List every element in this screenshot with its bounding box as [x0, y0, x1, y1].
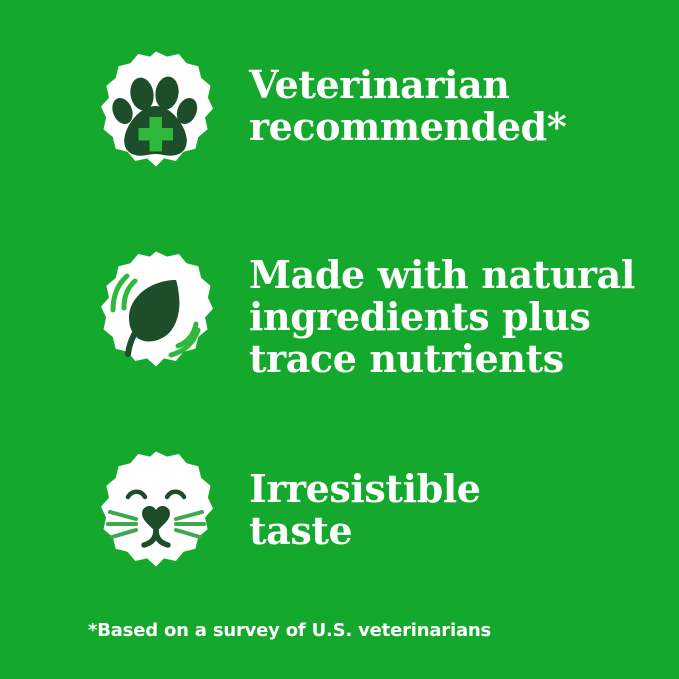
feature-text: Irresistible taste — [249, 450, 481, 552]
feature-row: Irresistible taste — [88, 450, 648, 586]
happy-cat-face-badge-icon — [88, 450, 224, 586]
footnote-text: *Based on a survey of U.S. veterinarians — [88, 620, 491, 642]
leaf-with-motion-lines-badge-icon — [88, 250, 224, 386]
feature-text: Made with natural ingredients plus trace… — [249, 250, 635, 380]
promo-poster: Veterinarian recommended* — [0, 0, 679, 679]
paw-with-cross-badge-icon — [88, 50, 224, 186]
feature-row: Veterinarian recommended* — [88, 50, 648, 186]
feature-text: Veterinarian recommended* — [249, 50, 566, 148]
feature-row: Made with natural ingredients plus trace… — [88, 250, 648, 386]
